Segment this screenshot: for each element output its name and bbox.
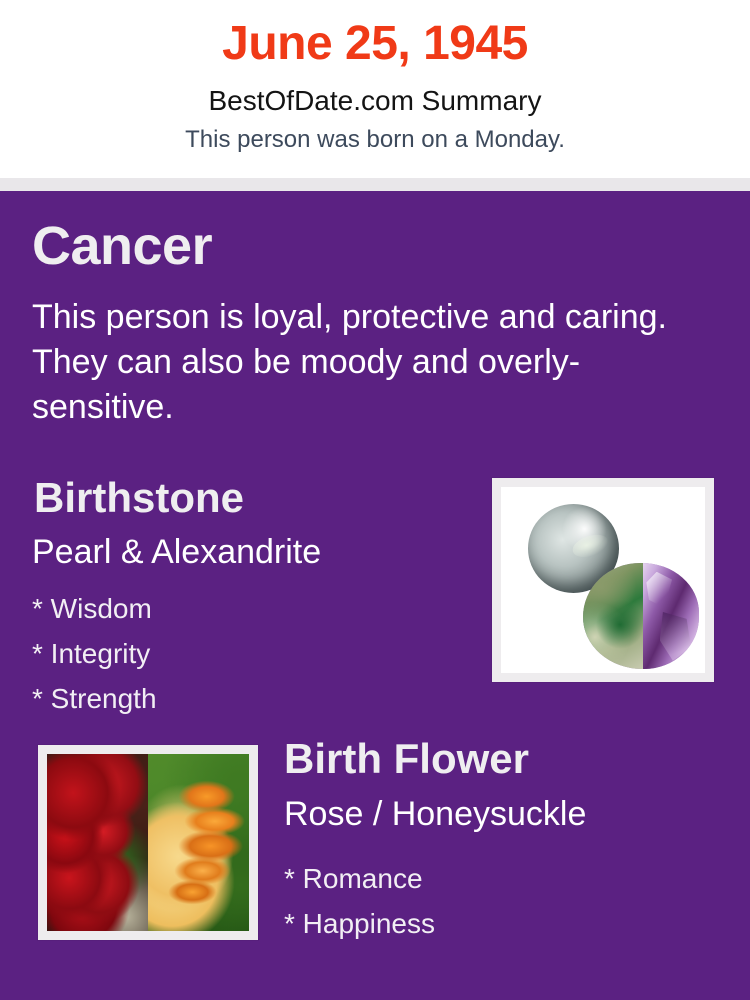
list-item: * Happiness (284, 901, 714, 946)
birth-weekday-note: This person was born on a Monday. (0, 127, 750, 153)
birthday-summary-card: June 25, 1945 BestOfDate.com Summary Thi… (0, 0, 750, 1000)
birth-flower-value: Rose / Honeysuckle (284, 797, 586, 831)
zodiac-description: This person is loyal, protective and car… (32, 295, 672, 431)
zodiac-sign-title: Cancer (32, 219, 212, 273)
alexandrite-faceted-half (643, 563, 699, 669)
birth-flower-photo-frame (38, 745, 258, 940)
birth-flower-image (47, 754, 249, 931)
alexandrite-rough-half (583, 563, 643, 669)
site-name-subtitle: BestOfDate.com Summary (0, 86, 750, 117)
list-item: * Strength (32, 676, 462, 721)
birthstone-photo-frame (492, 478, 714, 682)
list-item: * Integrity (32, 631, 462, 676)
card-header: June 25, 1945 BestOfDate.com Summary Thi… (0, 0, 750, 178)
birth-flower-heading: Birth Flower (284, 738, 529, 780)
birthstone-trait-list: * Wisdom * Integrity * Strength (32, 586, 462, 721)
red-roses-photo-half (47, 754, 148, 931)
birthstone-heading: Birthstone (34, 477, 244, 519)
page-title-date: June 25, 1945 (0, 18, 750, 71)
orange-honeysuckle-photo-half (148, 754, 249, 931)
birth-flower-trait-list: * Romance * Happiness (284, 856, 714, 946)
alexandrite-gem-icon (583, 563, 699, 669)
birthstone-value: Pearl & Alexandrite (32, 535, 321, 569)
list-item: * Romance (284, 856, 714, 901)
list-item: * Wisdom (32, 586, 462, 631)
header-divider (0, 178, 750, 191)
birthstone-image (501, 487, 705, 673)
